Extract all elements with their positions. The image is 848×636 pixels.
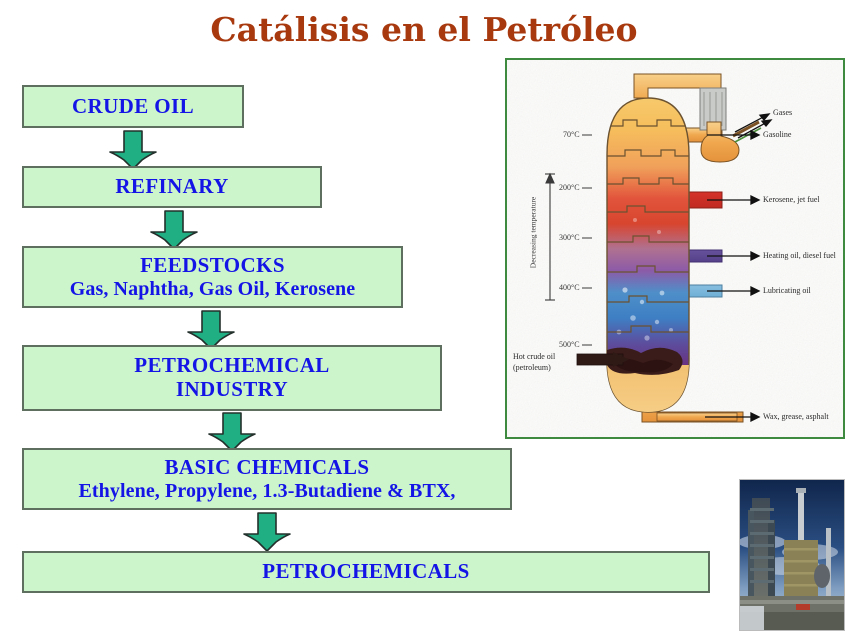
distillation-column-drawing (507, 60, 843, 437)
flow-box-refinary-line1: REFINARY (115, 175, 228, 199)
product-label-gases: Gases (773, 108, 792, 117)
flow-arrow-4 (203, 411, 261, 453)
axis-label-decreasing-temperature: Decreasing temperature (529, 185, 538, 281)
temperature-label-300c: 300°C (559, 233, 580, 242)
product-label-heating-oil: Heating oil, diesel fuel (763, 251, 836, 260)
flow-box-petrochemical-industry[interactable]: PETROCHEMICAL INDUSTRY (22, 345, 442, 411)
temperature-label-400c: 400°C (559, 283, 580, 292)
feed-label-hot-crude-oil-line2: (petroleum) (513, 363, 551, 372)
flow-arrow-5 (238, 511, 296, 553)
flow-box-basic-chemicals[interactable]: BASIC CHEMICALS Ethylene, Propylene, 1.3… (22, 448, 512, 510)
flow-box-feedstocks-line2: Gas, Naphtha, Gas Oil, Kerosene (70, 278, 356, 300)
flow-box-basic-chemicals-line1: BASIC CHEMICALS (165, 456, 370, 480)
flow-box-petrochemical-industry-line1: PETROCHEMICAL (134, 354, 329, 378)
refinery-photo-graphic (740, 480, 844, 630)
product-label-gasoline: Gasoline (763, 130, 791, 139)
flow-box-feedstocks[interactable]: FEEDSTOCKS Gas, Naphtha, Gas Oil, Kerose… (22, 246, 403, 308)
product-label-wax-grease: Wax, grease, asphalt (763, 412, 829, 421)
flow-box-feedstocks-line1: FEEDSTOCKS (140, 254, 285, 278)
flow-box-basic-chemicals-line2: Ethylene, Propylene, 1.3-Butadiene & BTX… (78, 480, 455, 502)
flow-arrow-1 (104, 129, 162, 171)
temperature-label-70c: 70°C (563, 130, 580, 139)
refinery-photo (739, 479, 845, 631)
product-label-kerosene: Kerosene, jet fuel (763, 195, 820, 204)
flow-box-petrochemicals[interactable]: PETROCHEMICALS (22, 551, 710, 593)
flow-box-petrochemicals-line1: PETROCHEMICALS (262, 560, 469, 584)
fractional-distillation-illustration: Decreasing temperature 70°C 200°C 300°C … (505, 58, 845, 439)
process-flow-diagram: CRUDE OIL REFINARY FEEDSTOCKS Gas, Napht… (0, 0, 510, 636)
temperature-label-200c: 200°C (559, 183, 580, 192)
flow-box-crude-oil-line1: CRUDE OIL (72, 95, 194, 119)
temperature-label-500c: 500°C (559, 340, 580, 349)
product-label-lubricating-oil: Lubricating oil (763, 286, 811, 295)
flow-box-refinary[interactable]: REFINARY (22, 166, 322, 208)
flow-box-crude-oil[interactable]: CRUDE OIL (22, 85, 244, 128)
flow-arrow-2 (145, 209, 203, 251)
flow-box-petrochemical-industry-line2: INDUSTRY (176, 378, 288, 402)
feed-label-hot-crude-oil-line1: Hot crude oil (513, 352, 555, 361)
